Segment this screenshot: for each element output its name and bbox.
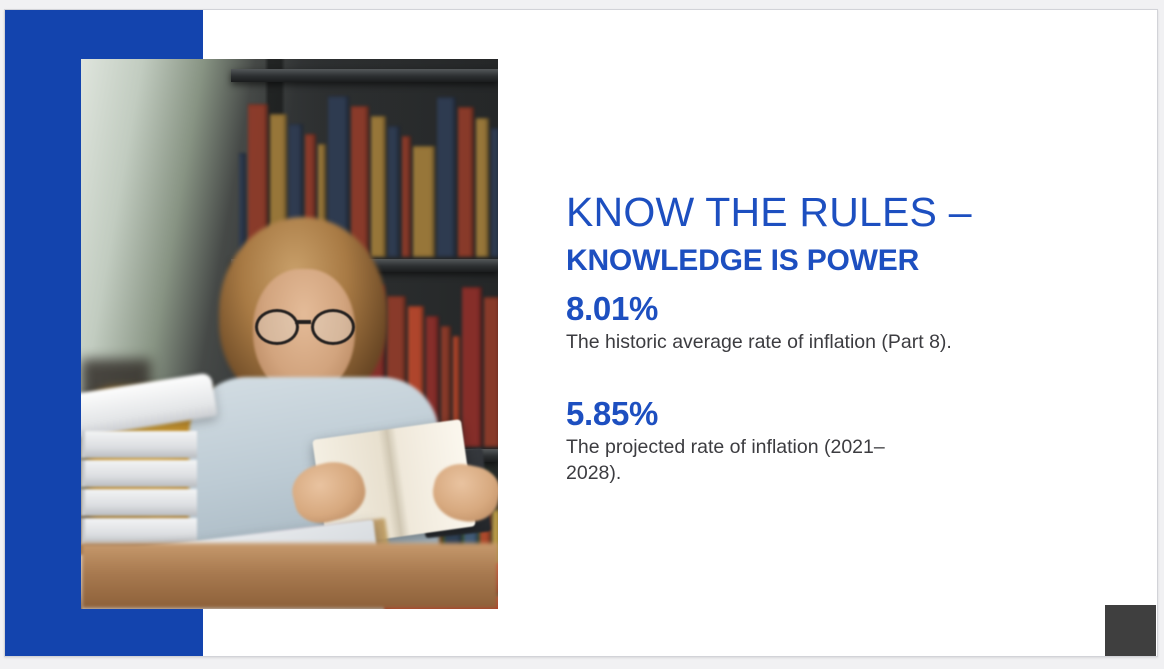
bookshelf-plank: [231, 69, 498, 82]
binder: [81, 489, 197, 516]
slide-root: KNOW THE RULES – KNOWLEDGE IS POWER 8.01…: [0, 0, 1164, 669]
binder: [81, 518, 197, 545]
book-spine: [437, 97, 456, 257]
stat-description: The projected rate of inflation (2021–20…: [566, 435, 896, 487]
book-spine: [371, 116, 386, 257]
eyeglass-bridge: [295, 320, 311, 324]
book-spine: [413, 146, 435, 257]
stat-value: 8.01%: [566, 291, 1036, 328]
stat-block-projected: 5.85% The projected rate of inflation (2…: [566, 396, 1036, 487]
book-spine: [476, 118, 489, 257]
binder: [81, 431, 197, 458]
book-spine: [491, 128, 498, 257]
photo-scene: [81, 59, 498, 609]
book-spine: [388, 126, 400, 257]
eyeglasses: [255, 309, 355, 339]
bottom-right-dark-square: [1105, 605, 1156, 657]
slide-title: KNOW THE RULES –: [566, 190, 1036, 234]
book-spine: [458, 107, 474, 257]
book-spine: [351, 106, 369, 257]
binder: [81, 460, 197, 487]
stat-value: 5.85%: [566, 396, 1036, 433]
eyeglass-lens-left: [255, 309, 299, 345]
book-spine: [462, 287, 482, 447]
desk-surface: [81, 543, 498, 609]
stat-block-historic: 8.01% The historic average rate of infla…: [566, 291, 1036, 356]
library-reading-photo: [81, 59, 498, 609]
book-spine: [402, 136, 411, 257]
stat-description: The historic average rate of inflation (…: [566, 330, 1021, 356]
slide-canvas: KNOW THE RULES – KNOWLEDGE IS POWER 8.01…: [4, 9, 1158, 657]
slide-text-column: KNOW THE RULES – KNOWLEDGE IS POWER 8.01…: [566, 190, 1036, 487]
book-spine: [484, 297, 498, 447]
slide-subtitle: KNOWLEDGE IS POWER: [566, 244, 1036, 278]
eyeglass-lens-right: [311, 309, 355, 345]
binder-stack: [81, 431, 193, 549]
